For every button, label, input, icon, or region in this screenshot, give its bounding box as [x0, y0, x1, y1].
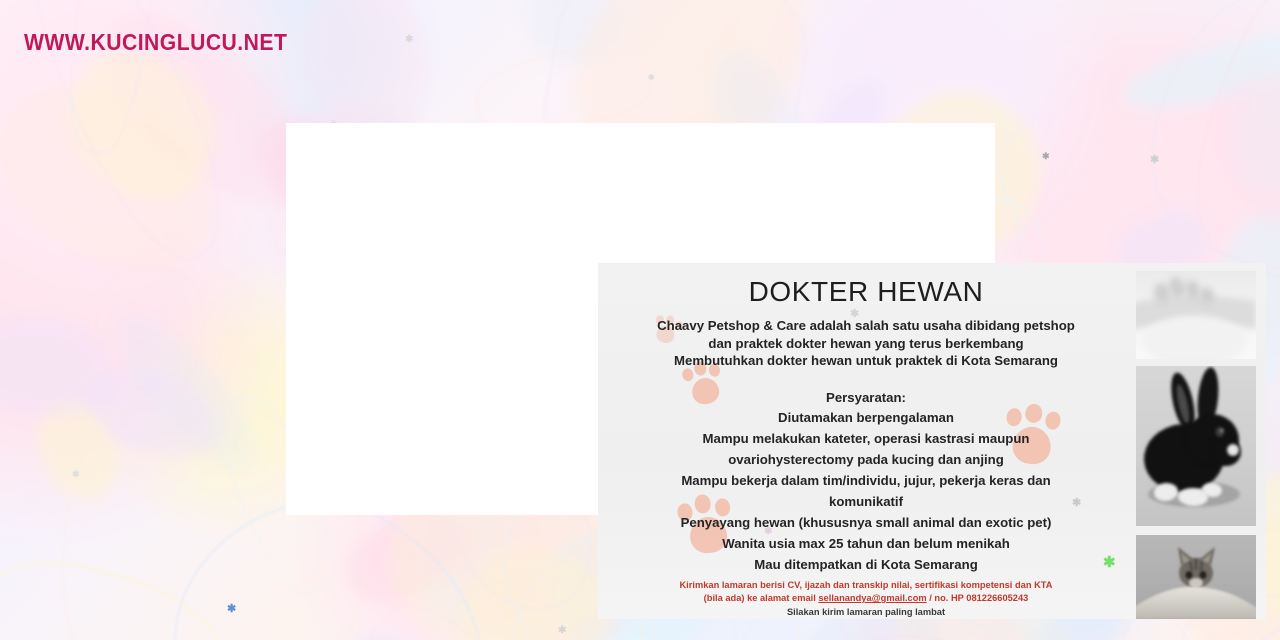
photo-black-rabbit	[1136, 366, 1256, 526]
contact-line-1: Kirimkan lamaran berisi CV, ijazah dan t…	[616, 579, 1116, 592]
photo-hands-kitten-canvas	[1136, 271, 1256, 359]
job-poster: ✱ ✱ ✱ ✱ DOKTER HEWAN Chaavy Petshop & Ca…	[598, 263, 1266, 619]
requirement-line-7: Wanita usia max 25 tahun dan belum menik…	[616, 533, 1116, 554]
poster-contact-footer: Kirimkan lamaran berisi CV, ijazah dan t…	[616, 579, 1116, 605]
contact-line-2-prefix: (bila ada) ke alamat email	[704, 593, 819, 603]
poster-intro-line-2: dan praktek dokter hewan yang terus berk…	[616, 335, 1116, 353]
poster-intro-line-1: Chaavy Petshop & Care adalah salah satu …	[616, 317, 1116, 335]
requirement-line-6: Penyayang hewan (khususnya small animal …	[616, 512, 1116, 533]
requirements-heading: Persyaratan:	[616, 390, 1116, 405]
poster-intro-line-3: Membutuhkan dokter hewan untuk praktek d…	[616, 352, 1116, 370]
photo-tabby-cat	[1136, 535, 1256, 619]
requirement-line-1: Diutamakan berpengalaman	[616, 407, 1116, 428]
photo-tabby-cat-canvas	[1136, 535, 1256, 619]
photo-hands-kitten	[1136, 271, 1256, 359]
sparkle-icon-6: ✱	[1042, 152, 1050, 161]
requirement-line-5: komunikatif	[616, 491, 1116, 512]
sparkle-icon-3: ✱	[227, 604, 236, 615]
requirement-line-2: Mampu melakukan kateter, operasi kastras…	[616, 428, 1116, 449]
photo-black-rabbit-canvas	[1136, 366, 1256, 526]
sparkle-icon-8: ✱	[648, 74, 655, 82]
poster-text-column: DOKTER HEWAN Chaavy Petshop & Care adala…	[616, 263, 1116, 575]
sparkle-icon-5: ✱	[1150, 155, 1159, 166]
requirement-line-3: ovariohysterectomy pada kucing dan anjin…	[616, 449, 1116, 470]
sparkle-icon-1: ✱	[405, 35, 413, 45]
poster-intro: Chaavy Petshop & Care adalah salah satu …	[616, 317, 1116, 370]
watermark-site-url: WWW.KUCINGLUCU.NET	[24, 29, 287, 56]
requirements-list: Diutamakan berpengalaman Mampu melakukan…	[616, 407, 1116, 575]
contact-email[interactable]: sellanandya@gmail.com	[818, 593, 926, 603]
poster-cut-off-line: Silakan kirim lamaran paling lambat	[616, 607, 1116, 618]
sparkle-icon-2: ✱	[558, 626, 566, 636]
requirement-line-8: Mau ditempatkan di Kota Semarang	[616, 554, 1116, 575]
poster-card: ✱ ✱ ✱ ✱ DOKTER HEWAN Chaavy Petshop & Ca…	[286, 123, 995, 515]
contact-line-2: (bila ada) ke alamat email sellanandya@g…	[616, 592, 1116, 605]
requirement-line-4: Mampu bekerja dalam tim/individu, jujur,…	[616, 470, 1116, 491]
poster-title: DOKTER HEWAN	[616, 276, 1116, 308]
sparkle-icon-9: ✱	[72, 470, 80, 479]
contact-line-2-suffix: / no. HP 081226605243	[927, 593, 1029, 603]
